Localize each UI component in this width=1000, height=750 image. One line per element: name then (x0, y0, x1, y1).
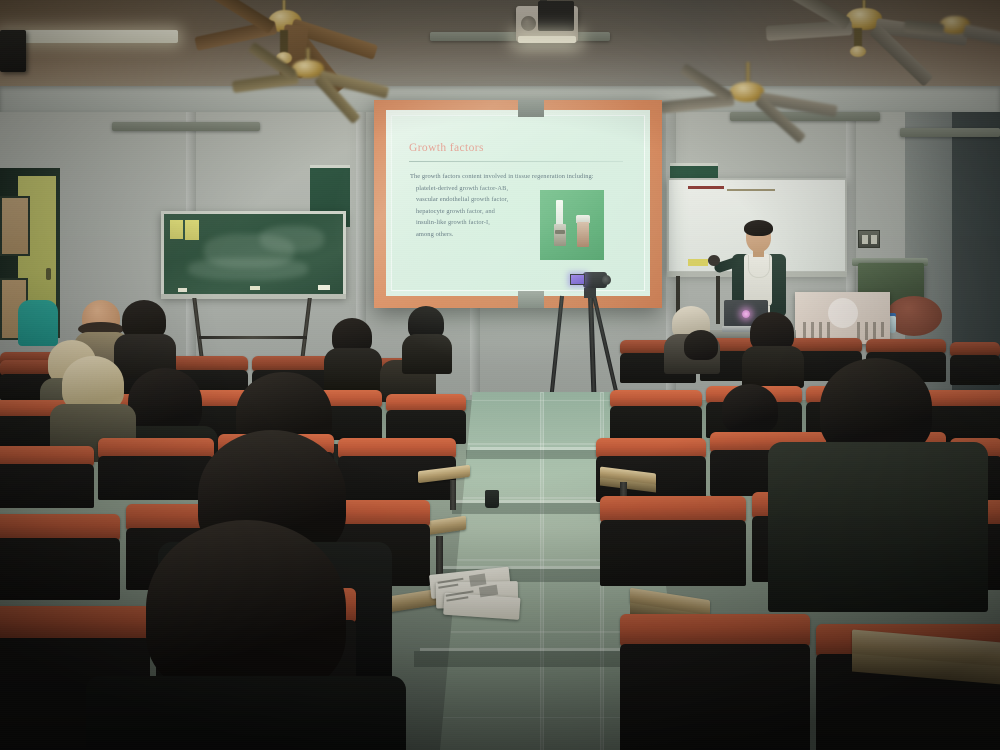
trash-bin (485, 490, 499, 508)
whiteboard-notice (688, 259, 708, 266)
chalkboard-tray (161, 294, 346, 299)
screen-clamp (518, 291, 544, 308)
whiteboard-marking (688, 186, 724, 189)
slide-divider (409, 161, 623, 162)
chalkboard-notice (170, 220, 183, 239)
camcorder-lcd-screen (570, 274, 585, 285)
slide-image-vials (540, 190, 604, 260)
ceiling-projector (516, 6, 578, 42)
ceiling-fan (930, 10, 1000, 80)
lecture-hall-photo: Growth factors The growth factors conten… (0, 0, 1000, 750)
fluorescent-light (0, 30, 178, 43)
whiteboard-leg (716, 276, 720, 324)
wall-speaker (0, 30, 26, 72)
fluorescent-light (900, 128, 1000, 137)
chalk-eraser (318, 285, 330, 290)
presenter-clicker-hand (708, 255, 720, 266)
presenter-hair (744, 220, 773, 236)
notice-board (0, 196, 30, 256)
laptop-logo-icon (742, 310, 750, 318)
slide-title: Growth factors (409, 142, 484, 154)
chalkboard-notice (185, 220, 199, 240)
ceiling-fan (232, 48, 392, 128)
tripod-head (584, 288, 596, 298)
wall-switch-panel[interactable] (858, 230, 880, 248)
chalk (178, 288, 187, 292)
camcorder-lens (602, 275, 611, 285)
banner-emblem (828, 298, 858, 328)
water-bottle (889, 316, 896, 333)
whiteboard-marking (727, 189, 775, 191)
door-handle[interactable] (46, 268, 51, 280)
screen-clamp (518, 100, 544, 117)
ceiling-fan (660, 62, 830, 152)
presenter-lanyard (748, 255, 770, 278)
slide-intro-line: The growth factors content involved in t… (410, 171, 625, 183)
presentation-slide: Growth factors The growth factors conten… (391, 115, 645, 291)
chalk (250, 286, 260, 290)
